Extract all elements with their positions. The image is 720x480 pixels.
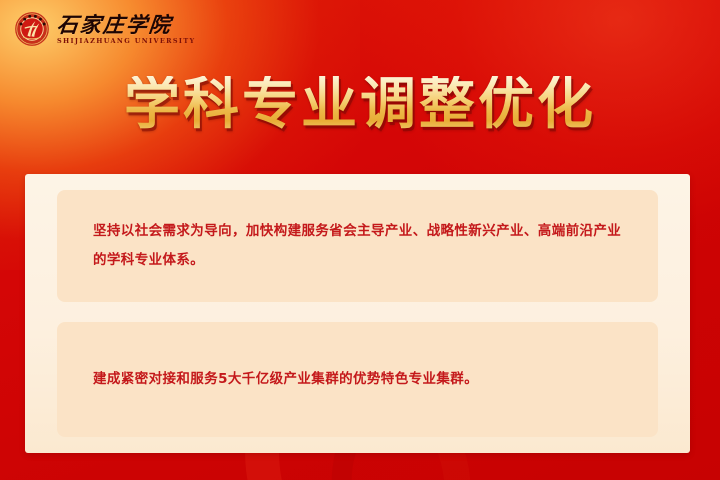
presentation-slide: 石家庄学院 SHIJIAZHUANG UNIVERSITY 学科专业调整优化 坚… — [0, 0, 720, 480]
brand-lockup: 石家庄学院 SHIJIAZHUANG UNIVERSITY — [14, 11, 196, 47]
statement-box: 建成紧密对接和服务5大千亿级产业集群的优势特色专业集群。 — [57, 322, 658, 437]
statement-text: 建成紧密对接和服务5大千亿级产业集群的优势特色专业集群。 — [93, 365, 478, 394]
university-name-en: SHIJIAZHUANG UNIVERSITY — [57, 38, 196, 45]
university-name-cn: 石家庄学院 — [56, 14, 197, 35]
slide-title: 学科专业调整优化 — [0, 76, 720, 135]
brand-text: 石家庄学院 SHIJIAZHUANG UNIVERSITY — [57, 14, 196, 45]
university-seal-icon — [14, 11, 50, 47]
statement-text: 坚持以社会需求为导向，加快构建服务省会主导产业、战略性新兴产业、高端前沿产业的学… — [93, 217, 622, 275]
content-panel: 坚持以社会需求为导向，加快构建服务省会主导产业、战略性新兴产业、高端前沿产业的学… — [25, 174, 690, 453]
statement-box: 坚持以社会需求为导向，加快构建服务省会主导产业、战略性新兴产业、高端前沿产业的学… — [57, 190, 658, 302]
